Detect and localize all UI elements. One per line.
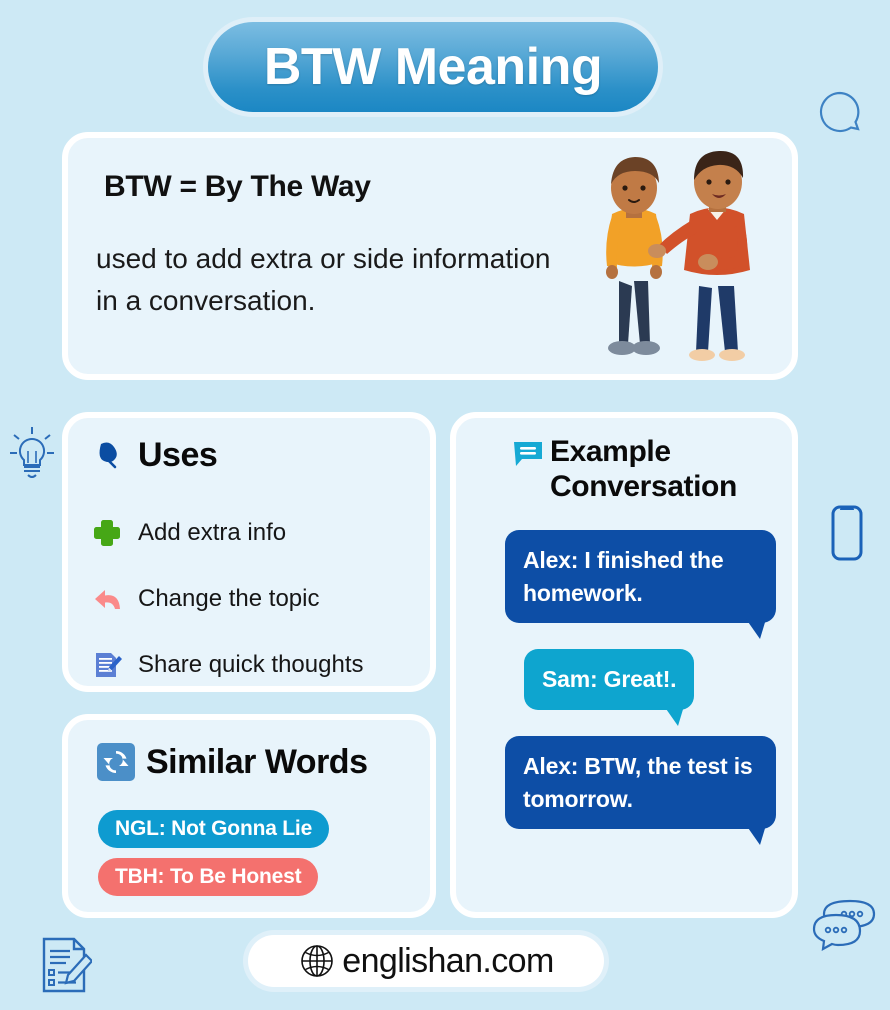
similar-word-pill[interactable]: TBH: To Be Honest [98, 858, 318, 896]
list-item: Change the topic [90, 566, 418, 632]
page-title: BTW Meaning [264, 41, 602, 93]
lightbulb-icon [8, 425, 56, 481]
use-label: Add extra info [138, 519, 286, 547]
uses-card: Uses Add extra info Change the topic [62, 412, 436, 692]
speech-bubble-lines-icon [512, 438, 544, 470]
conversation-bubbles: Alex: I finished the homework. Sam: Grea… [456, 530, 792, 855]
list-item: Add extra info [90, 500, 418, 566]
similar-word-pill[interactable]: NGL: Not Gonna Lie [98, 810, 329, 848]
message-row: Sam: Great!. [472, 649, 776, 710]
footer-site-pill[interactable]: englishan.com [248, 935, 604, 987]
globe-icon [298, 942, 336, 980]
infographic-page: BTW Meaning BTW = By The Way used to add… [0, 0, 890, 1010]
green-plus-icon [90, 516, 124, 550]
message-row: Alex: BTW, the test is tomorrow. [472, 736, 776, 829]
chat-bubbles-icon [812, 897, 878, 951]
chat-bubble: Sam: Great!. [524, 649, 694, 710]
document-pencil-icon [38, 935, 92, 995]
definition-body: used to add extra or side information in… [96, 238, 566, 322]
similar-words-header: Similar Words [96, 742, 368, 782]
refresh-arrows-icon [96, 742, 136, 782]
uses-list: Add extra info Change the topic [90, 500, 418, 698]
list-item: Share quick thoughts [90, 632, 418, 698]
chat-bubble-text: Sam: Great!. [542, 666, 676, 692]
similar-words-card: Similar Words NGL: Not Gonna Lie TBH: To… [62, 714, 436, 918]
definition-card: BTW = By The Way used to add extra or si… [62, 132, 798, 380]
pushpin-icon [92, 438, 128, 474]
chat-bubble: Alex: BTW, the test is tomorrow. [505, 736, 776, 829]
chat-bubble-text: Alex: I finished the homework. [523, 547, 723, 606]
chat-bubble-text: Alex: BTW, the test is tomorrow. [523, 753, 752, 812]
speech-bubble-outline-icon [818, 90, 862, 136]
chat-bubble: Alex: I finished the homework. [505, 530, 776, 623]
example-conversation-card: Example Conversation Alex: I finished th… [450, 412, 798, 918]
uses-title: Uses [138, 436, 217, 475]
message-row: Alex: I finished the homework. [472, 530, 776, 623]
page-title-banner: BTW Meaning [208, 22, 658, 112]
use-label: Share quick thoughts [138, 651, 363, 679]
pink-curved-arrow-icon [90, 582, 124, 616]
similar-words-list: NGL: Not Gonna Lie TBH: To Be Honest [98, 810, 430, 906]
definition-heading: BTW = By The Way [104, 170, 371, 204]
memo-pencil-icon [90, 648, 124, 682]
example-conversation-title: Example Conversation [550, 434, 765, 505]
smartphone-icon [830, 505, 864, 561]
example-conversation-header: Example Conversation [512, 434, 765, 505]
similar-words-title: Similar Words [146, 743, 368, 782]
uses-card-header: Uses [92, 436, 217, 475]
footer-site-label: englishan.com [342, 942, 553, 981]
use-label: Change the topic [138, 585, 319, 613]
two-people-talking-illustration [562, 146, 782, 371]
